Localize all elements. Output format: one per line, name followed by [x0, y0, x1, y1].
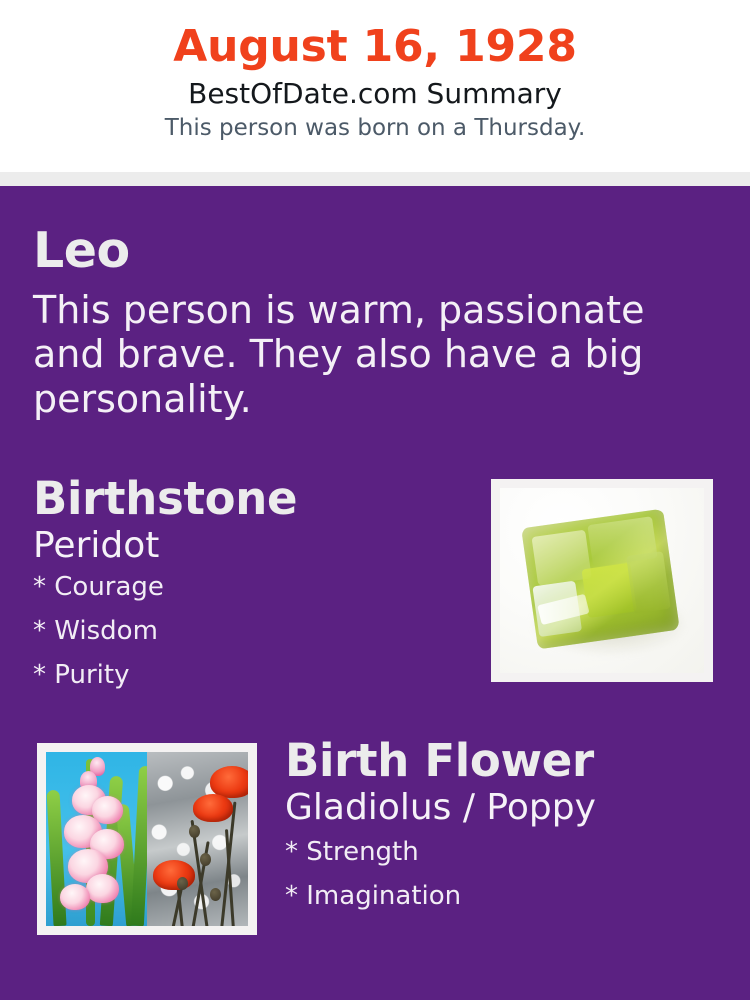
poppy-bloom	[153, 860, 195, 890]
gladiolus-poppy-photo	[46, 752, 248, 926]
poppy-bloom	[210, 766, 248, 798]
poppy-bud	[200, 853, 211, 866]
birthstone-title: Birthstone	[33, 476, 463, 521]
header-divider	[0, 172, 750, 186]
page-title-date: August 16, 1928	[0, 0, 750, 70]
birthstone-image-frame	[491, 479, 713, 682]
gladiolus-photo-half	[46, 752, 147, 926]
poppy-bud	[177, 877, 188, 890]
list-item: * Purity	[33, 662, 463, 706]
peridot-gemstone-photo	[500, 488, 704, 673]
list-item: * Courage	[33, 574, 463, 618]
birthflower-image-frame	[37, 743, 257, 935]
header: August 16, 1928 BestOfDate.com Summary T…	[0, 0, 750, 172]
zodiac-section: Leo This person is warm, passionate and …	[33, 226, 693, 421]
list-item: * Imagination	[285, 883, 735, 927]
birthflower-section: Birth Flower Gladiolus / Poppy * Strengt…	[285, 738, 735, 927]
gladiolus-bloom	[60, 884, 90, 910]
poppy-photo-half	[147, 752, 248, 926]
summary-card: August 16, 1928 BestOfDate.com Summary T…	[0, 0, 750, 1000]
birthstone-section: Birthstone Peridot * Courage * Wisdom * …	[33, 476, 463, 706]
zodiac-sign-name: Leo	[33, 226, 693, 275]
leaf	[131, 766, 147, 926]
poppy-bud	[210, 888, 221, 901]
site-name: BestOfDate.com Summary	[0, 70, 750, 110]
day-of-week-note: This person was born on a Thursday.	[0, 110, 750, 141]
poppy-bloom	[193, 794, 233, 822]
list-item: * Wisdom	[33, 618, 463, 662]
zodiac-description: This person is warm, passionate and brav…	[33, 275, 683, 421]
list-item: * Strength	[285, 839, 735, 883]
gladiolus-bloom	[86, 874, 119, 903]
gem-facet	[626, 550, 671, 613]
gem-crystal	[521, 508, 679, 649]
birthflower-trait-list: * Strength * Imagination	[285, 827, 735, 927]
birthflower-name: Gladiolus / Poppy	[285, 783, 735, 827]
birthstone-trait-list: * Courage * Wisdom * Purity	[33, 565, 463, 706]
photo-split	[46, 752, 248, 926]
birthstone-name: Peridot	[33, 521, 463, 565]
birthflower-title: Birth Flower	[285, 738, 735, 783]
gladiolus-bloom	[92, 796, 123, 824]
poppy-bud	[189, 825, 200, 838]
